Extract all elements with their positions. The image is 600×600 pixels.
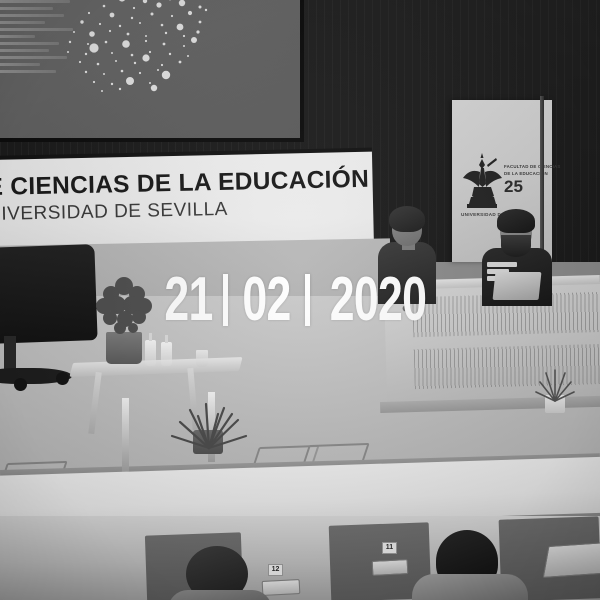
audience-area: 12 11	[0, 516, 600, 600]
drinking-glass	[196, 350, 208, 367]
banner-pole	[540, 96, 544, 266]
banner-anniversary-number: 25	[504, 178, 523, 195]
speaker-right-beard	[501, 235, 531, 257]
speaker-right-hair	[497, 209, 535, 233]
laptop	[493, 272, 542, 300]
tablet-arm-desk	[543, 542, 600, 578]
speaker-left-body	[378, 242, 436, 304]
water-bottle	[161, 342, 172, 366]
office-chair-backrest	[0, 244, 98, 344]
seat-number-12: 12	[268, 564, 283, 576]
audience-person-left-shoulders	[168, 590, 272, 600]
office-chair-base	[0, 368, 72, 384]
audience-person-right-shoulders	[412, 574, 528, 600]
water-bottle	[145, 340, 156, 366]
tablet-arm-desk	[372, 559, 409, 576]
tablet-arm-desk	[262, 579, 301, 596]
projection-screen	[0, 0, 300, 138]
winged-figure-crest-icon	[461, 153, 503, 211]
slide-text-block	[0, 0, 76, 82]
fern-foliage	[166, 398, 252, 450]
desk-knob	[402, 305, 408, 311]
speaker-left-hair	[389, 206, 425, 232]
photo-frame: E CIENCIAS DE LA EDUCACIÓN NIVERSIDAD DE…	[0, 0, 600, 600]
chair-caster	[56, 372, 69, 385]
potted-plant-foliage	[92, 272, 156, 338]
chair-caster	[14, 378, 27, 391]
seat-number-11: 11	[382, 542, 397, 554]
microphone-stand	[122, 398, 129, 474]
banner-line1: FACULTAD DE CIENCIAS	[504, 164, 561, 169]
desk-plant-foliage	[534, 368, 576, 402]
